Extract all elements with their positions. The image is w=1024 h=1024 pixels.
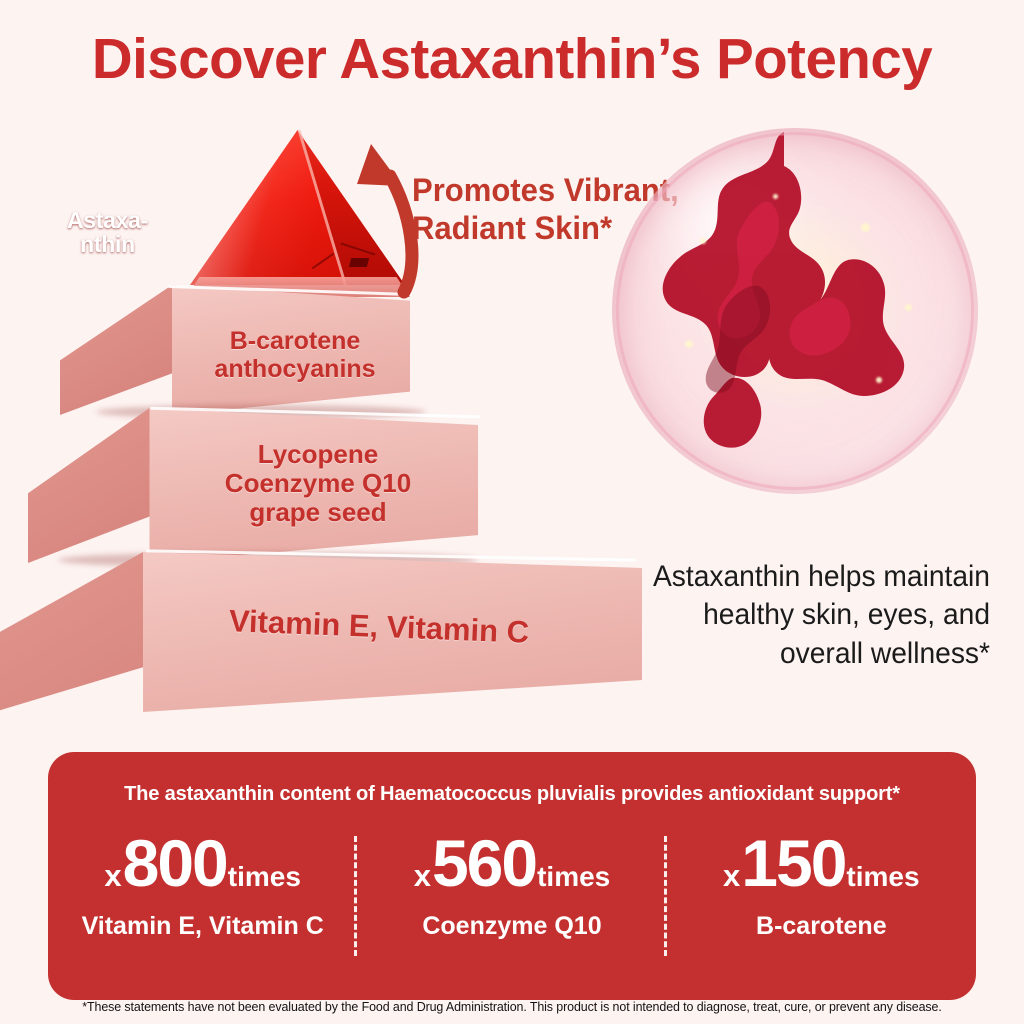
antioxidant-banner: The astaxanthin content of Haematococcus…	[48, 752, 976, 1000]
pyramid-tier-2: Lycopene Coenzyme Q10 grape seed	[28, 408, 478, 563]
apex-label-line2: nthin	[0, 232, 215, 256]
pyramid-tier-3: Vitamin E, Vitamin C	[0, 552, 642, 712]
stat-item-1: x 800 times Vitamin E, Vitamin C	[48, 830, 357, 990]
apex-crack-3	[349, 258, 369, 267]
stat-3-caption: B-carotene	[756, 912, 887, 941]
stat-2-number-line: x 560 times	[414, 830, 611, 896]
stat-1-unit: times	[228, 861, 301, 893]
page-title: Discover Astaxanthin’s Potency	[5, 26, 1019, 92]
apex-label-line1: Astaxa-	[0, 208, 215, 232]
stat-1-number-line: x 800 times	[104, 830, 301, 896]
stat-1-value: 800	[123, 830, 227, 896]
stat-3-multiplier: x	[723, 858, 740, 894]
stat-3-unit: times	[846, 861, 919, 893]
benefit-paragraph: Astaxanthin helps maintain healthy skin,…	[623, 558, 990, 673]
banner-headline: The astaxanthin content of Haematococcus…	[57, 782, 966, 806]
infographic-canvas: Discover Astaxanthin’s Potency Astaxa- n…	[0, 0, 1024, 1024]
benefit-line-3: overall wellness*	[623, 635, 990, 673]
stat-2-multiplier: x	[414, 858, 431, 894]
bubble-rim	[616, 132, 974, 490]
stat-1-multiplier: x	[104, 858, 121, 894]
stats-row: x 800 times Vitamin E, Vitamin C x 560 t…	[48, 830, 976, 990]
pyramid-apex-astaxanthin	[190, 130, 405, 285]
stat-item-3: x 150 times B-carotene	[667, 830, 976, 990]
apex-label: Astaxa- nthin	[0, 208, 215, 256]
benefit-line-1: Astaxanthin helps maintain	[623, 558, 990, 596]
stat-item-2: x 560 times Coenzyme Q10	[357, 830, 666, 990]
algae-bubble	[612, 128, 978, 494]
stat-2-value: 560	[432, 830, 536, 896]
stat-1-caption: Vitamin E, Vitamin C	[82, 912, 324, 941]
stat-2-caption: Coenzyme Q10	[422, 912, 601, 941]
stat-3-number-line: x 150 times	[723, 830, 920, 896]
stat-2-unit: times	[537, 861, 610, 893]
benefit-line-2: healthy skin, eyes, and	[623, 596, 990, 634]
stat-3-value: 150	[741, 830, 845, 896]
fda-disclaimer: *These statements have not been evaluate…	[3, 1000, 1022, 1014]
pyramid-tier-1: B-carotene anthocyanins	[60, 285, 410, 415]
